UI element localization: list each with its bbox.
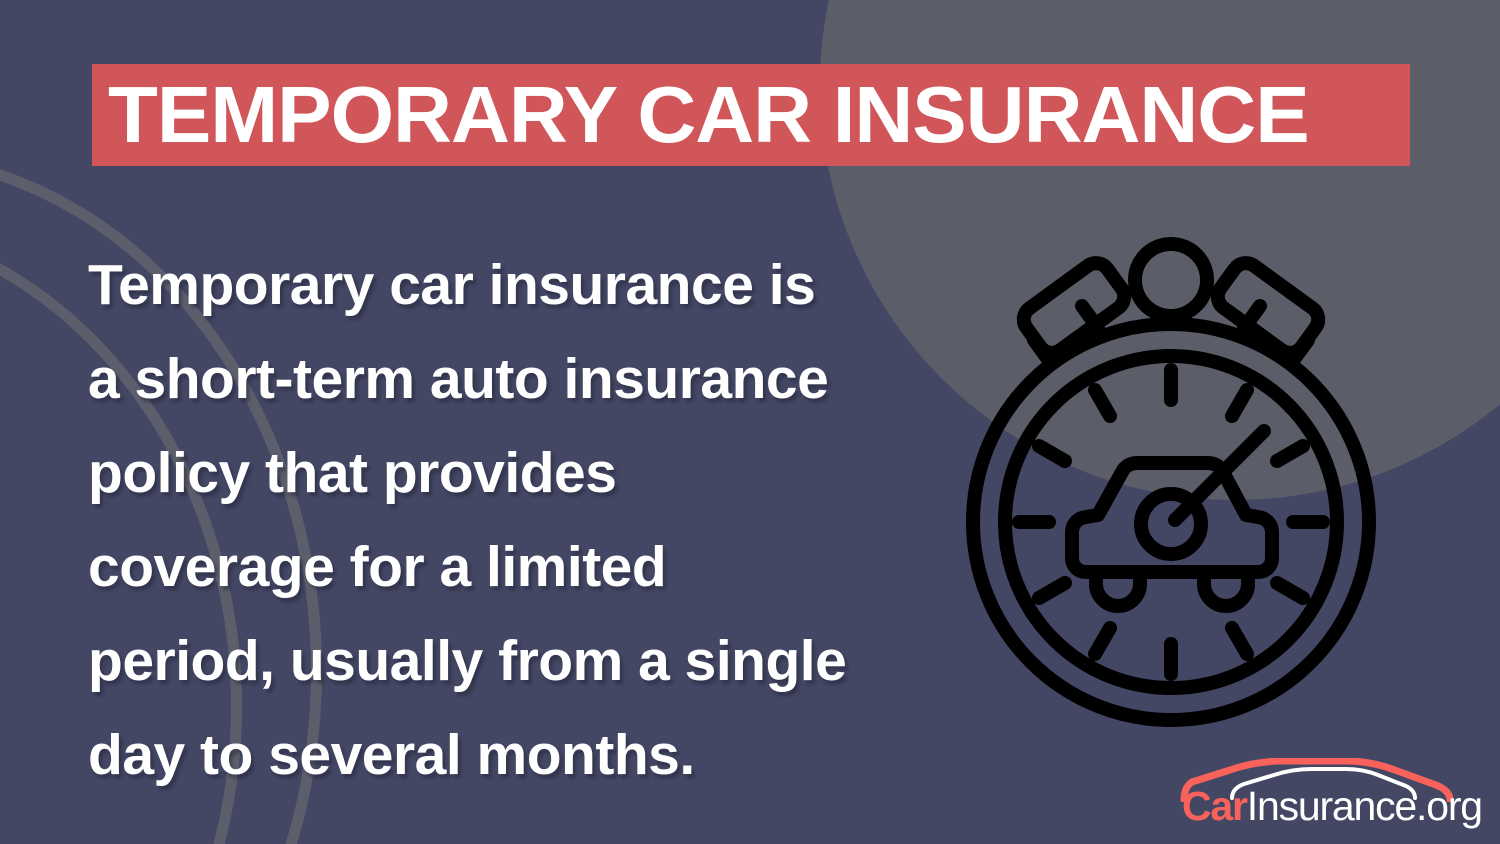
logo-wordmark: CarInsurance.org	[1182, 784, 1482, 828]
infographic-canvas: TEMPORARY CAR INSURANCE Temporary car in…	[0, 0, 1500, 844]
logo-brand-secondary: Insurance.org	[1247, 783, 1482, 829]
stopwatch-needle	[1141, 431, 1264, 554]
body-line: policy that provides	[88, 426, 968, 520]
brand-logo[interactable]: CarInsurance.org	[1178, 758, 1478, 836]
body-line: period, usually from a single	[88, 614, 968, 708]
stopwatch-car-glyph	[1072, 463, 1272, 606]
title-banner: TEMPORARY CAR INSURANCE	[92, 64, 1410, 166]
stopwatch-crown	[1135, 244, 1207, 316]
body-line: Temporary car insurance is	[88, 238, 968, 332]
body-line: day to several months.	[88, 708, 968, 802]
body-copy: Temporary car insurance is a short-term …	[88, 238, 968, 802]
page-title: TEMPORARY CAR INSURANCE	[108, 75, 1309, 155]
stopwatch-car-icon	[946, 232, 1396, 752]
body-line: coverage for a limited	[88, 520, 968, 614]
logo-brand-primary: Car	[1182, 783, 1247, 829]
body-line: a short-term auto insurance	[88, 332, 968, 426]
